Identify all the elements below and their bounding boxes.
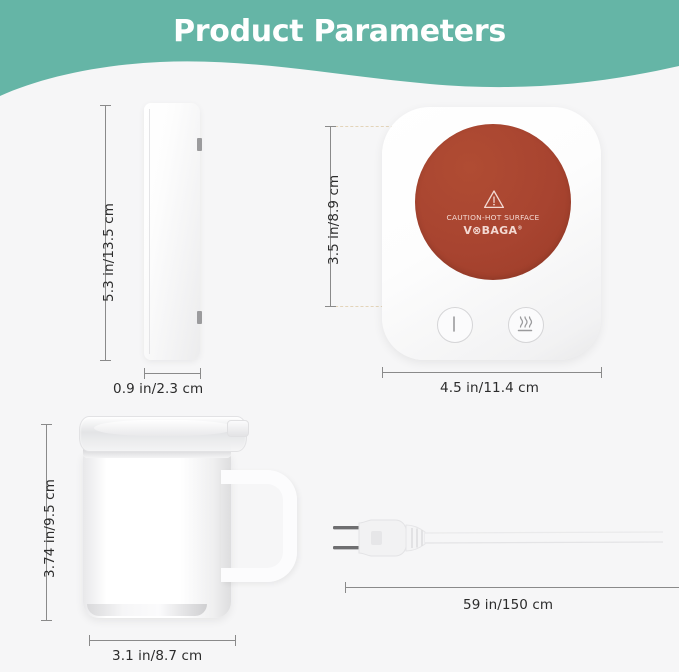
mug-height-label: 3.74 in/9.5 cm	[42, 479, 58, 578]
side-width-label: 0.9 in/2.3 cm	[113, 381, 203, 397]
page-title: Product Parameters	[0, 14, 679, 49]
warmer-height-tick-bottom	[325, 306, 336, 307]
power-cord	[333, 510, 663, 570]
side-width-tick-left	[144, 368, 145, 379]
mug-width-rule	[89, 640, 236, 641]
warning-triangle-icon	[483, 189, 505, 209]
mug-handle	[221, 470, 297, 582]
warmer-side-nub-top	[197, 138, 202, 151]
power-button[interactable]	[437, 307, 473, 343]
side-width-tick-right	[200, 368, 201, 379]
cord-length-tick-left	[345, 582, 346, 593]
side-height-label: 5.3 in/13.5 cm	[101, 203, 117, 302]
warmer-side-nub-bottom	[197, 311, 202, 324]
brand-logo: V⊗BAGA®	[415, 224, 571, 237]
warmer-heating-plate: CAUTION-HOT SURFACE V⊗BAGA®	[415, 124, 571, 280]
warmer-width-tick-left	[382, 367, 383, 378]
mug-lid-tab	[227, 420, 249, 437]
product-parameters-page: Product Parameters 5.3 in/13.5 cm 0.9 in…	[0, 0, 679, 672]
heat-waves-icon	[509, 308, 541, 340]
brand-logo-text: V⊗BAGA	[463, 224, 517, 237]
power-cord-shape	[333, 510, 663, 570]
mug-base	[87, 604, 207, 616]
caution-text: CAUTION-HOT SURFACE	[415, 213, 571, 222]
side-width-rule	[144, 373, 201, 374]
warmer-width-tick-right	[601, 367, 602, 378]
mug-height-tick-bottom	[41, 620, 52, 621]
stainless-steel-mug	[75, 408, 315, 623]
mug-lid-top	[94, 420, 234, 436]
brand-registered-mark: ®	[517, 225, 522, 231]
cord-length-rule	[345, 587, 679, 588]
mug-width-tick-left	[89, 635, 90, 646]
side-height-tick-top	[100, 105, 111, 106]
plug-prong-top	[333, 526, 361, 529]
mug-width-label: 3.1 in/8.7 cm	[112, 648, 202, 664]
warmer-width-label: 4.5 in/11.4 cm	[440, 380, 539, 396]
heat-button[interactable]	[508, 307, 544, 343]
mug-height-tick-top	[41, 424, 52, 425]
mug-body	[83, 452, 231, 618]
cord-length-label: 59 in/150 cm	[463, 597, 553, 613]
warmer-height-tick-top	[325, 126, 336, 127]
cable	[425, 532, 663, 543]
header-banner: Product Parameters	[0, 0, 679, 100]
plug-head	[359, 520, 406, 556]
mug-warmer-side-view	[144, 103, 200, 360]
power-icon	[438, 308, 470, 340]
side-height-tick-bottom	[100, 360, 111, 361]
plug-prong-bottom	[333, 546, 361, 549]
mug-lid	[79, 416, 247, 452]
plug-head-detail	[371, 531, 382, 545]
warmer-side-body	[144, 103, 200, 360]
mug-warmer-top-view: CAUTION-HOT SURFACE V⊗BAGA®	[382, 107, 601, 360]
warmer-width-rule	[382, 372, 602, 373]
warmer-height-label: 3.5 in/8.9 cm	[326, 175, 342, 265]
mug-width-tick-right	[235, 635, 236, 646]
warmer-side-edge	[149, 109, 150, 354]
